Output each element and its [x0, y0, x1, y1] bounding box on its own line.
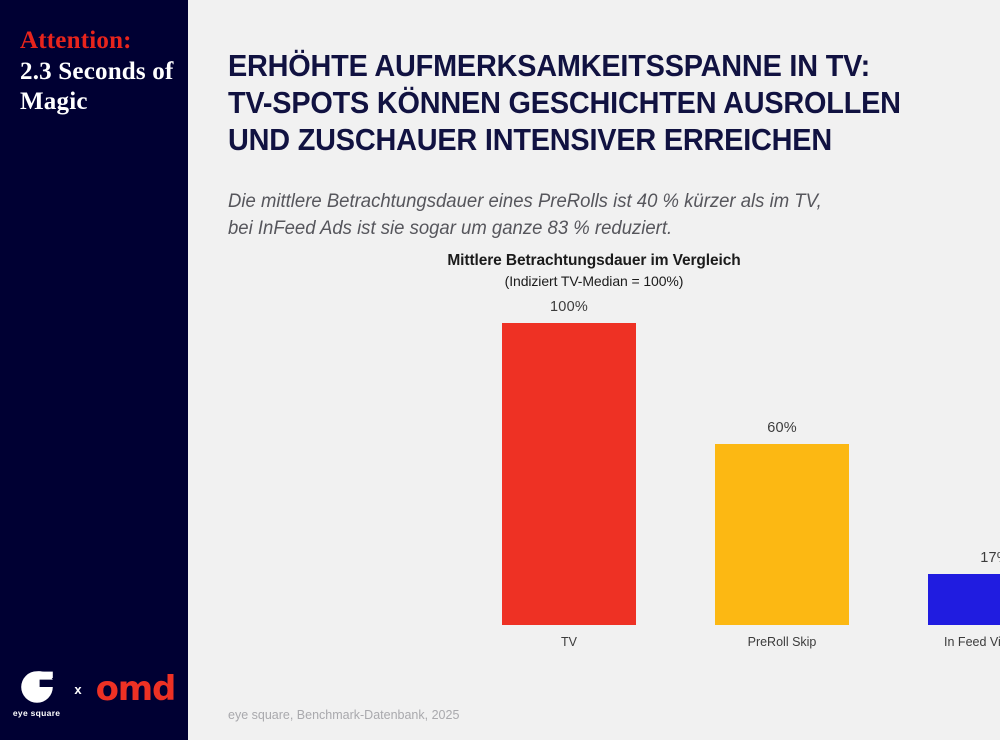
bar-group[interactable]: 60%PreRoll Skip [715, 420, 849, 625]
bar-tv[interactable] [502, 323, 636, 625]
subtitle-line-2: bei InFeed Ads ist sie sogar um ganze 83… [228, 215, 960, 243]
bar-category-label: PreRoll Skip [748, 635, 817, 649]
eye-square-mark-icon [20, 670, 54, 704]
chart-source-note: eye square, Benchmark-Datenbank, 2025 [228, 708, 459, 722]
chart-title: Mittlere Betrachtungsdauer im Vergleich [188, 252, 1000, 270]
omd-logo: omd [96, 672, 176, 716]
bar-category-label: TV [561, 635, 577, 649]
sidebar-title-block: Attention: 2.3 Seconds of Magic [20, 26, 176, 118]
bar-group[interactable]: 100%TV [502, 299, 636, 625]
main-content: ERHÖHTE AUFMERKSAMKEITSSPANNE IN TV: TV-… [188, 0, 1000, 740]
bar-in-feed-video-ads[interactable] [928, 574, 1000, 625]
chart-plot-area: 100%TV60%PreRoll Skip17%In Feed Video Ad… [188, 303, 1000, 673]
eye-square-logo: eye square [13, 670, 60, 718]
bar-category-label: In Feed Video Ads [944, 635, 1000, 649]
sidebar-logo-row: eye square x omd [0, 670, 188, 718]
sidebar: Attention: 2.3 Seconds of Magic eye squa… [0, 0, 188, 740]
headline-line-3: UND ZUSCHAUER INTENSIVER ERREICHEN [228, 121, 935, 158]
page-title: ERHÖHTE AUFMERKSAMKEITSSPANNE IN TV: TV-… [228, 47, 935, 159]
slide: Attention: 2.3 Seconds of Magic eye squa… [0, 0, 1000, 740]
bar-value-label: 60% [767, 420, 797, 436]
eye-square-wordmark: eye square [13, 708, 60, 718]
chart-subtitle: (Indiziert TV-Median = 100%) [188, 273, 1000, 289]
bar-value-label: 17% [980, 550, 1000, 566]
logo-connector: x [74, 682, 81, 707]
bar-value-label: 100% [550, 299, 588, 315]
bar-preroll-skip[interactable] [715, 444, 849, 625]
sidebar-attention-label: Attention: [20, 26, 176, 57]
bar-chart: Mittlere Betrachtungsdauer im Vergleich … [188, 252, 1000, 692]
bar-group[interactable]: 17%In Feed Video Ads [928, 550, 1000, 625]
page-subtitle: Die mittlere Betrachtungsdauer eines Pre… [228, 188, 960, 243]
headline-line-2: TV-SPOTS KÖNNEN GESCHICHTEN AUSROLLEN [228, 84, 935, 121]
sidebar-tagline: 2.3 Seconds of Magic [20, 57, 176, 118]
subtitle-line-1: Die mittlere Betrachtungsdauer eines Pre… [228, 188, 960, 216]
headline-line-1: ERHÖHTE AUFMERKSAMKEITSSPANNE IN TV: [228, 47, 935, 84]
